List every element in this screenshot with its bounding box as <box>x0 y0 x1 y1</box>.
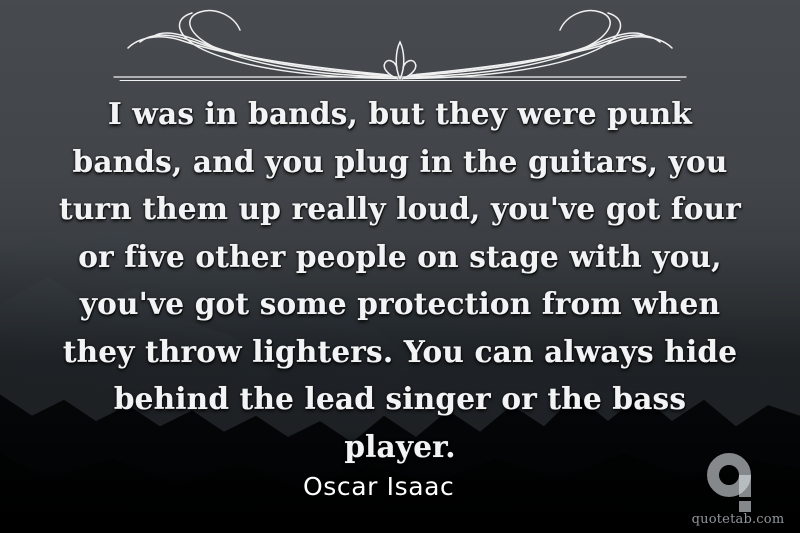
logo-block-shape <box>739 501 751 512</box>
quote-author: Oscar Isaac <box>303 472 454 501</box>
watermark-site-label: quotetab.com <box>686 512 790 527</box>
quote-card: I was in bands, but they were punk bands… <box>0 0 800 533</box>
quote-text: I was in bands, but they were punk bands… <box>56 90 744 470</box>
logo-stem-shape <box>739 475 751 497</box>
flourish-divider-icon <box>0 6 800 84</box>
quotetab-logo-icon <box>707 453 769 511</box>
watermark[interactable]: quotetab.com <box>686 453 790 527</box>
